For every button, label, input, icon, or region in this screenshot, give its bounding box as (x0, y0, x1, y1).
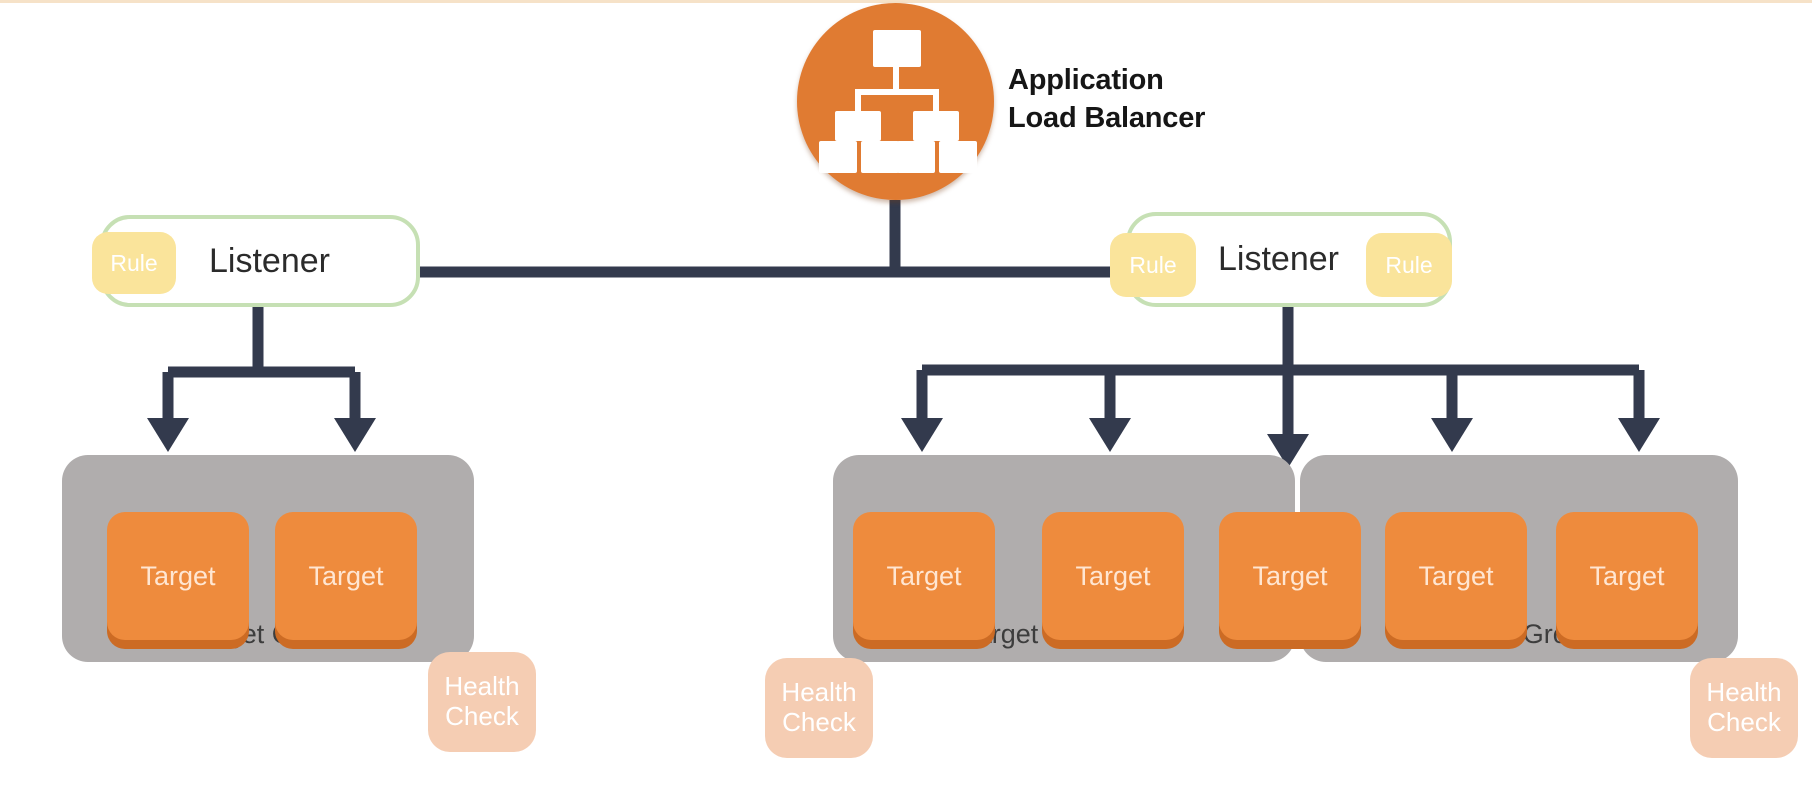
arrowhead-right-2 (1089, 418, 1131, 452)
diagram-canvas: Application Load Balancer Listener Rule … (0, 0, 1812, 788)
arrowhead-left-1 (147, 418, 189, 452)
target-g3-2[interactable]: Target (1385, 512, 1527, 640)
arrowhead-left-2 (334, 418, 376, 452)
target-shared-g2-g3[interactable]: Target (1219, 512, 1361, 640)
listener-left-label: Listener (209, 242, 330, 281)
target-g1-2[interactable]: Target (275, 512, 417, 640)
alb-title-line1: Application (1008, 62, 1308, 100)
listener-right-label: Listener (1218, 240, 1339, 279)
health-check-g1[interactable]: Health Check (428, 652, 536, 752)
alb-title: Application Load Balancer (1008, 62, 1308, 137)
health-check-g3-line1: Health (1706, 678, 1781, 708)
health-check-g3-line2: Check (1707, 708, 1781, 738)
target-g1-1[interactable]: Target (107, 512, 249, 640)
arrowhead-right-1 (901, 418, 943, 452)
arrowhead-right-5 (1618, 418, 1660, 452)
alb-title-line2: Load Balancer (1008, 100, 1308, 138)
arrowhead-right-4 (1431, 418, 1473, 452)
target-g3-3[interactable]: Target (1556, 512, 1698, 640)
health-check-g2[interactable]: Health Check (765, 658, 873, 758)
application-load-balancer-icon[interactable] (797, 3, 994, 200)
rule-badge-right-1[interactable]: Rule (1110, 233, 1196, 297)
rule-badge-right-2[interactable]: Rule (1366, 233, 1452, 297)
target-g2-1[interactable]: Target (853, 512, 995, 640)
target-g2-2[interactable]: Target (1042, 512, 1184, 640)
health-check-g3[interactable]: Health Check (1690, 658, 1798, 758)
rule-badge-left-1[interactable]: Rule (92, 232, 176, 294)
health-check-g1-line2: Check (445, 702, 519, 732)
health-check-g2-line1: Health (781, 678, 856, 708)
health-check-g1-line1: Health (444, 672, 519, 702)
health-check-g2-line2: Check (782, 708, 856, 738)
